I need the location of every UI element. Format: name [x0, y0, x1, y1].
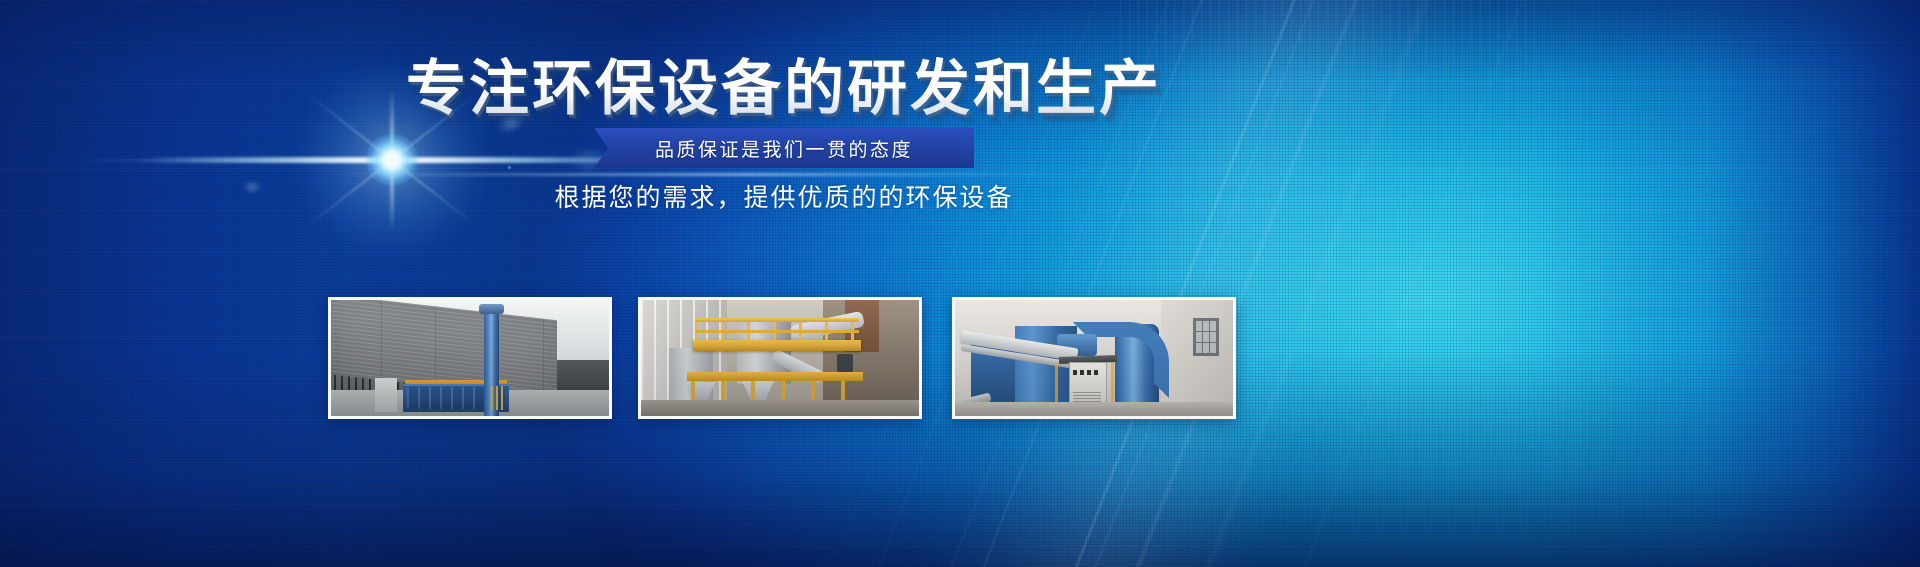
railing-top-bar [695, 318, 859, 322]
banner-content: 专注环保设备的研发和生产 品质保证是我们一贯的态度 根据您的需求，提供优质的的环… [0, 0, 1920, 567]
photo-thumbnail-2[interactable] [638, 297, 922, 419]
roller-door [375, 378, 397, 412]
banner-headline: 专注环保设备的研发和生产 [0, 57, 1568, 122]
window [1193, 318, 1219, 356]
photo-thumbnail-1[interactable] [328, 297, 612, 419]
window-grid [1195, 320, 1217, 354]
ribbon-badge-wrap: 品质保证是我们一贯的态度 [0, 128, 1568, 168]
control-box [837, 354, 853, 372]
banner-subline: 根据您的需求，提供优质的的环保设备 [0, 178, 1568, 214]
photo-1-art [331, 300, 609, 416]
railing-mid-bar [695, 330, 859, 333]
lower-platform-deck [687, 372, 863, 381]
cabinet-indicator-lights [1073, 370, 1101, 375]
photo-2-art [641, 300, 919, 416]
floor [955, 402, 1233, 416]
yellow-ladder [491, 386, 505, 410]
photo-thumbnail-3[interactable] [952, 297, 1236, 419]
hero-banner: 专注环保设备的研发和生产 品质保证是我们一贯的态度 根据您的需求，提供优质的的环… [0, 0, 1920, 567]
exhaust-stack-cap [479, 304, 504, 314]
ribbon-badge-text: 品质保证是我们一贯的态度 [655, 135, 913, 162]
floor [641, 400, 919, 416]
ribbon-badge: 品质保证是我们一贯的态度 [594, 128, 974, 168]
photo-3-art [955, 300, 1233, 416]
photo-strip [0, 297, 1568, 413]
